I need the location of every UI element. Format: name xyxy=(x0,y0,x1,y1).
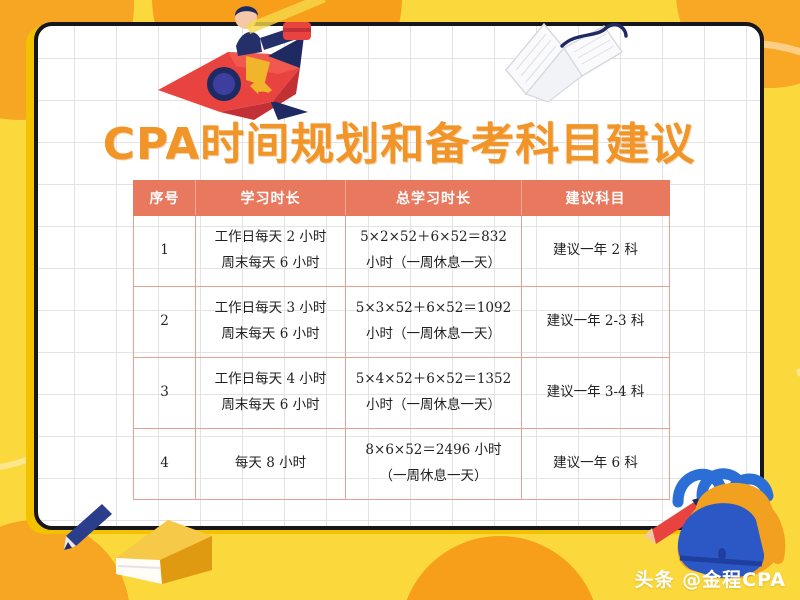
cell-line: 小时（一周休息一天） xyxy=(350,251,517,277)
cell-study-time: 工作日每天 3 小时 周末每天 6 小时 xyxy=(196,287,346,358)
cell-study-time: 工作日每天 4 小时 周末每天 6 小时 xyxy=(196,358,346,429)
cell-line: （一周休息一天） xyxy=(350,464,517,490)
cell-no: 4 xyxy=(134,429,196,500)
cell-subjects: 建议一年 6 科 xyxy=(522,429,670,500)
table-header-row: 序号 学习时长 总学习时长 建议科目 xyxy=(134,181,670,216)
decorative-blob-bottom-middle xyxy=(400,536,600,600)
table-row: 2 工作日每天 3 小时 周末每天 6 小时 5×3×52＋6×52＝1092 … xyxy=(134,287,670,358)
cell-subjects: 建议一年 2 科 xyxy=(522,216,670,287)
cell-line: 小时（一周休息一天） xyxy=(350,322,517,348)
poster: CPA时间规划和备考科目建议 序号 学习时长 总学习时长 建议科目 1 工作日每… xyxy=(0,0,800,600)
column-header-study-time: 学习时长 xyxy=(196,181,346,216)
cell-total-time: 5×4×52＋6×52＝1352 小时（一周休息一天） xyxy=(346,358,522,429)
cell-total-time: 5×3×52＋6×52＝1092 小时（一周休息一天） xyxy=(346,287,522,358)
cell-no: 3 xyxy=(134,358,196,429)
cell-line: 工作日每天 4 小时 xyxy=(200,367,341,393)
cell-subjects: 建议一年 3-4 科 xyxy=(522,358,670,429)
cell-line: 工作日每天 2 小时 xyxy=(200,225,341,251)
table-row: 3 工作日每天 4 小时 周末每天 6 小时 5×4×52＋6×52＝1352 … xyxy=(134,358,670,429)
study-plan-table: 序号 学习时长 总学习时长 建议科目 1 工作日每天 2 小时 周末每天 6 小… xyxy=(133,180,670,500)
cell-line: 工作日每天 3 小时 xyxy=(200,296,341,322)
cell-line: 每天 8 小时 xyxy=(200,451,341,477)
cell-total-time: 5×2×52＋6×52＝832 小时（一周休息一天） xyxy=(346,216,522,287)
cell-no: 1 xyxy=(134,216,196,287)
page-title: CPA时间规划和备考科目建议 xyxy=(34,108,764,172)
cell-line: 小时（一周休息一天） xyxy=(350,393,517,419)
cell-line: 周末每天 6 小时 xyxy=(200,251,341,277)
table-row: 1 工作日每天 2 小时 周末每天 6 小时 5×2×52＋6×52＝832 小… xyxy=(134,216,670,287)
column-header-total-time: 总学习时长 xyxy=(346,181,522,216)
cell-study-time: 工作日每天 2 小时 周末每天 6 小时 xyxy=(196,216,346,287)
study-plan-table-container: 序号 学习时长 总学习时长 建议科目 1 工作日每天 2 小时 周末每天 6 小… xyxy=(133,180,669,500)
watermark-text: 头条 @金程CPA xyxy=(635,565,786,592)
cell-line: 5×2×52＋6×52＝832 xyxy=(350,225,517,251)
cell-line: 5×3×52＋6×52＝1092 xyxy=(350,296,517,322)
cell-study-time: 每天 8 小时 xyxy=(196,429,346,500)
cell-total-time: 8×6×52＝2496 小时 （一周休息一天） xyxy=(346,429,522,500)
cell-line: 5×4×52＋6×52＝1352 xyxy=(350,367,517,393)
cell-line: 周末每天 6 小时 xyxy=(200,322,341,348)
cell-line: 8×6×52＝2496 小时 xyxy=(350,438,517,464)
cell-subjects: 建议一年 2-3 科 xyxy=(522,287,670,358)
cell-no: 2 xyxy=(134,287,196,358)
column-header-no: 序号 xyxy=(134,181,196,216)
column-header-subjects: 建议科目 xyxy=(522,181,670,216)
table-row: 4 每天 8 小时 8×6×52＝2496 小时 （一周休息一天） 建议一年 6… xyxy=(134,429,670,500)
cell-line: 周末每天 6 小时 xyxy=(200,393,341,419)
